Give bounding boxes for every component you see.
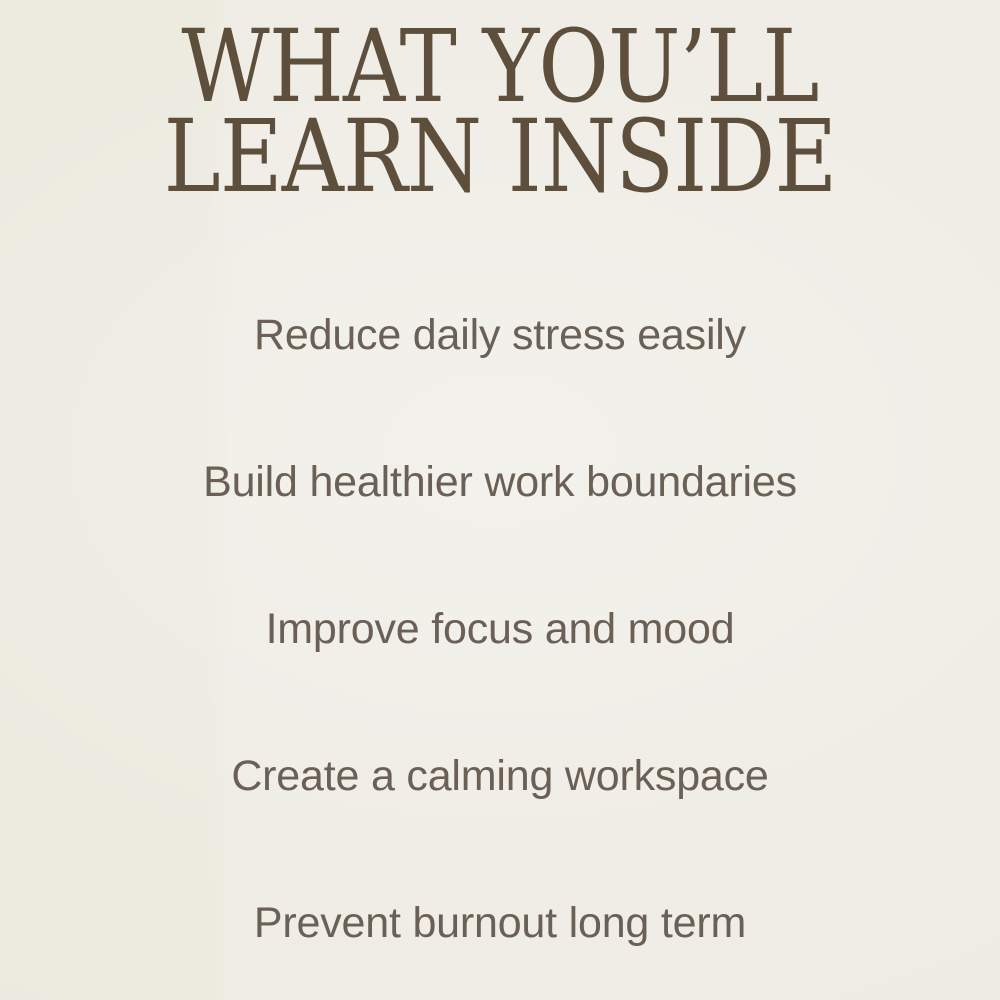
benefit-label-4: Create a calming workspace [231, 752, 768, 801]
poster-content: WHAT YOU’LL LEARN INSIDE Reduce daily st… [0, 0, 1000, 1000]
benefit-label-3: Improve focus and mood [266, 605, 735, 654]
list-item: Build healthier work boundaries [0, 409, 1000, 556]
page-title: WHAT YOU’LL LEARN INSIDE [70, 22, 930, 202]
list-item: Create a calming workspace [0, 703, 1000, 850]
benefit-label-1: Reduce daily stress easily [254, 311, 746, 360]
list-item: Prevent burnout long term [0, 850, 1000, 997]
list-item: Reduce daily stress easily [0, 262, 1000, 409]
list-item: Improve focus and mood [0, 556, 1000, 703]
page-title-line-2: LEARN INSIDE [70, 112, 930, 202]
benefit-label-2: Build healthier work boundaries [203, 458, 797, 507]
poster-canvas: WHAT YOU’LL LEARN INSIDE Reduce daily st… [0, 0, 1000, 1000]
benefit-label-5: Prevent burnout long term [254, 899, 746, 948]
benefits-list: Reduce daily stress easily Build healthi… [0, 262, 1000, 997]
